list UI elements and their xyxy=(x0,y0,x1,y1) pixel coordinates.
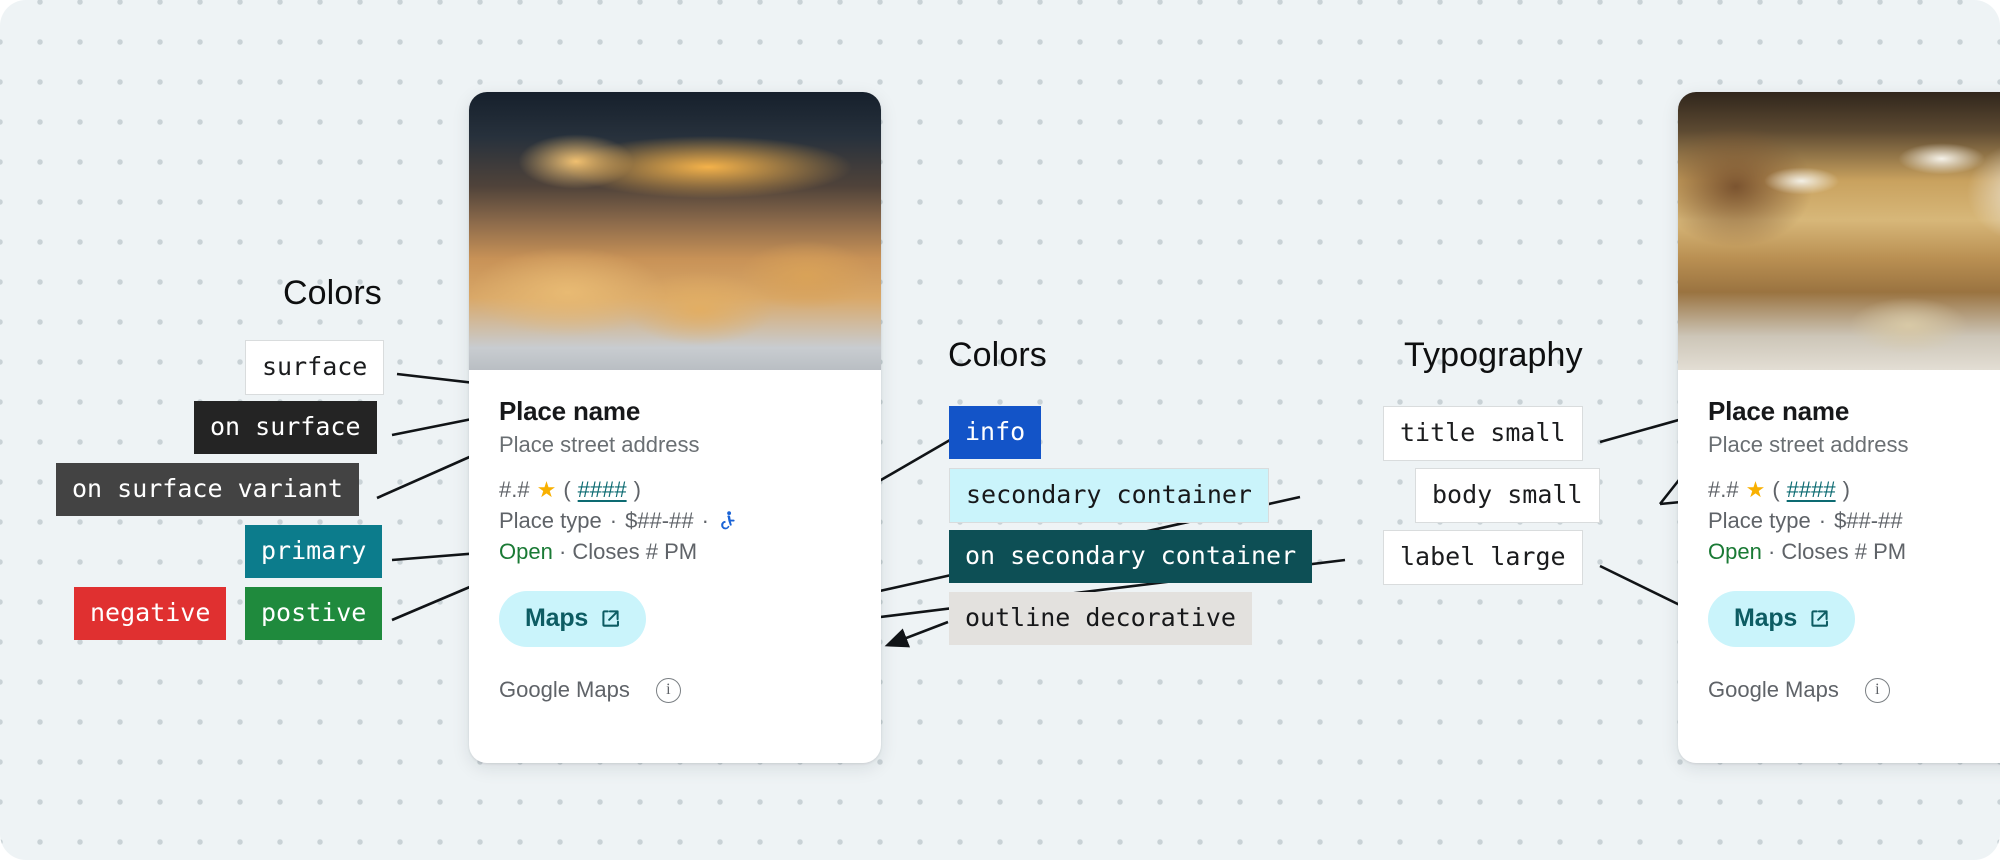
footer-attribution: Google Maps xyxy=(499,677,630,703)
maps-button-label-right: Maps xyxy=(1734,604,1797,633)
place-card-center[interactable]: Place name Place street address #.# ★ (#… xyxy=(469,92,881,763)
place-hours-row-right: Open · Closes # PM xyxy=(1708,539,2000,565)
place-type-right: Place type xyxy=(1708,508,1811,534)
star-icon-right: ★ xyxy=(1746,479,1766,501)
place-photo-right xyxy=(1678,92,2000,370)
heading-colors-mid: Colors xyxy=(948,336,1047,375)
color-token-outline-decorative[interactable]: outline decorative xyxy=(949,592,1252,645)
review-count-close-right: ) xyxy=(1843,477,1850,503)
color-token-on-surface-variant[interactable]: on surface variant xyxy=(56,463,359,516)
type-token-title-small[interactable]: title small xyxy=(1383,406,1583,461)
review-count-close: ) xyxy=(634,477,641,503)
place-meta-row: Place type · $##-## · xyxy=(499,508,851,534)
star-icon: ★ xyxy=(537,479,557,501)
meta-separator-right: · xyxy=(1819,508,1826,534)
maps-button[interactable]: Maps xyxy=(499,591,646,647)
type-token-label-large[interactable]: label large xyxy=(1383,530,1583,585)
color-token-postive[interactable]: postive xyxy=(245,587,382,640)
rating-value-right: #.# xyxy=(1708,477,1739,503)
hours-separator: · xyxy=(559,539,566,564)
color-token-secondary-container[interactable]: secondary container xyxy=(949,468,1269,523)
hours-separator-right: · xyxy=(1768,539,1775,564)
rating-row: #.# ★ (####) xyxy=(499,477,851,503)
maps-button-right[interactable]: Maps xyxy=(1708,591,1855,647)
place-address-right: Place street address xyxy=(1708,432,2000,458)
maps-button-label: Maps xyxy=(525,604,588,633)
footer-attribution-right: Google Maps xyxy=(1708,677,1839,703)
review-count-link[interactable]: #### xyxy=(578,477,627,503)
card-footer: Google Maps i xyxy=(499,677,851,729)
color-token-surface[interactable]: surface xyxy=(245,340,384,395)
closing-time-right: Closes # PM xyxy=(1781,539,1906,564)
color-token-on-surface[interactable]: on surface xyxy=(194,401,377,454)
rating-row-right: #.# ★ (####) xyxy=(1708,477,2000,503)
rating-value: #.# xyxy=(499,477,530,503)
place-card-right[interactable]: Place name Place street address #.# ★ (#… xyxy=(1678,92,2000,763)
design-annotation-canvas: Colors surface on surface on surface var… xyxy=(0,0,2000,860)
heading-colors-left: Colors xyxy=(283,274,382,313)
meta-separator-2: · xyxy=(702,508,709,534)
meta-separator-1: · xyxy=(610,508,617,534)
review-count-link-right[interactable]: #### xyxy=(1787,477,1836,503)
place-price-right: $##-## xyxy=(1834,508,1903,534)
place-address: Place street address xyxy=(499,432,851,458)
heading-typography: Typography xyxy=(1404,336,1583,375)
place-meta-row-right: Place type · $##-## xyxy=(1708,508,2000,534)
external-link-icon xyxy=(599,607,622,630)
color-token-negative[interactable]: negative xyxy=(74,587,226,640)
place-name-right: Place name xyxy=(1708,396,2000,427)
info-circle-icon[interactable]: i xyxy=(656,678,681,703)
info-circle-icon-right[interactable]: i xyxy=(1865,678,1890,703)
place-type: Place type xyxy=(499,508,602,534)
review-count-open: ( xyxy=(563,477,570,503)
color-token-info[interactable]: info xyxy=(949,406,1041,459)
review-count-open-right: ( xyxy=(1772,477,1779,503)
color-token-primary[interactable]: primary xyxy=(245,525,382,578)
wheelchair-accessible-icon xyxy=(717,510,739,532)
external-link-icon-right xyxy=(1808,607,1831,630)
open-status: Open xyxy=(499,539,553,564)
closing-time: Closes # PM xyxy=(572,539,697,564)
color-token-on-secondary-container[interactable]: on secondary container xyxy=(949,530,1312,583)
type-token-body-small[interactable]: body small xyxy=(1415,468,1600,523)
place-photo xyxy=(469,92,881,370)
place-hours-row: Open · Closes # PM xyxy=(499,539,851,565)
open-status-right: Open xyxy=(1708,539,1762,564)
place-price: $##-## xyxy=(625,508,694,534)
place-name: Place name xyxy=(499,396,851,427)
card-footer-right: Google Maps i xyxy=(1708,677,2000,729)
